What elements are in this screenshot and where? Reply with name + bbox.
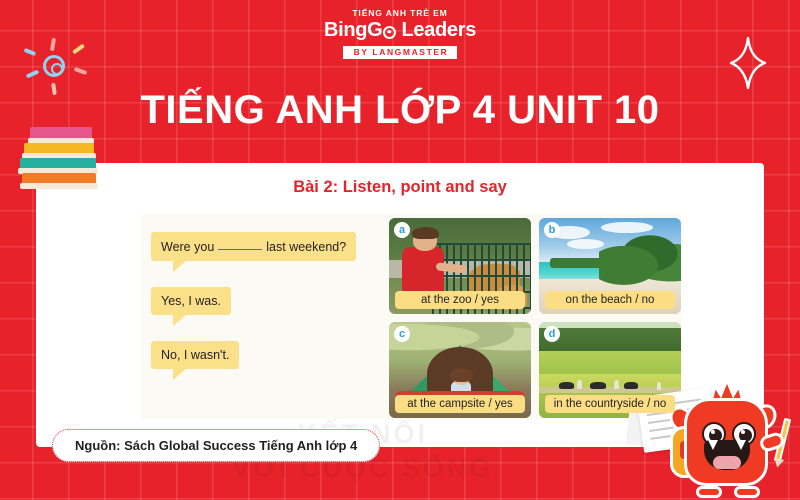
brand-name-part2: Leaders xyxy=(401,19,476,42)
brand-byline: BY LANGMASTER xyxy=(343,46,458,60)
page-title: TIẾNG ANH LỚP 4 UNIT 10 xyxy=(0,90,800,130)
picture-card-grid: a at the zoo / yes b on t xyxy=(389,218,681,418)
book-stack-icon xyxy=(18,127,106,191)
sun-swirl-icon xyxy=(22,38,88,94)
card-badge-d: d xyxy=(544,326,560,342)
card-label-zoo: at the zoo / yes xyxy=(395,291,525,309)
card-label-beach: on the beach / no xyxy=(545,291,675,309)
bubble-text-after: last weekend? xyxy=(266,240,346,254)
bubble-text-before: Were you xyxy=(161,240,214,254)
card-badge-b: b xyxy=(544,222,560,238)
content-panel: Bài 2: Listen, point and say KẾT NỐI VỚI… xyxy=(36,163,764,447)
brand-tagline: TIẾNG ANH TRẺ EM xyxy=(352,9,447,18)
picture-card-zoo[interactable]: a at the zoo / yes xyxy=(389,218,531,314)
source-caption: Nguồn: Sách Global Success Tiếng Anh lớp… xyxy=(52,429,380,462)
bingo-o-icon xyxy=(383,26,396,39)
monster-mascot-icon xyxy=(660,378,790,500)
card-badge-a: a xyxy=(394,222,410,238)
card-label-countryside: in the countryside / no xyxy=(545,395,675,413)
bubble-row: Yes, I was. xyxy=(151,287,381,315)
sparkle-star-icon xyxy=(729,36,767,90)
card-badge-c: c xyxy=(394,326,410,342)
dialogue-bubbles: Were youlast weekend? Yes, I was. No, I … xyxy=(151,232,381,395)
speech-bubble-answer-yes: Yes, I was. xyxy=(151,287,231,315)
brand-logo: TIẾNG ANH TRẺ EM BingG Leaders BY LANGMA… xyxy=(0,9,800,59)
picture-card-countryside[interactable]: d in the countryside / no xyxy=(539,322,681,418)
picture-card-beach[interactable]: b on the beach / no xyxy=(539,218,681,314)
speech-bubble-question: Were youlast weekend? xyxy=(151,232,356,261)
brand-name: BingG Leaders xyxy=(324,19,476,42)
slide-root: TIẾNG ANH TRẺ EM BingG Leaders BY LANGMA… xyxy=(0,0,800,500)
brand-name-part1: BingG xyxy=(324,19,383,42)
worksheet-area: Were youlast weekend? Yes, I was. No, I … xyxy=(141,214,681,419)
sparkle-star-svg xyxy=(729,36,767,90)
bubble-row: No, I wasn't. xyxy=(151,341,381,369)
speech-bubble-answer-no: No, I wasn't. xyxy=(151,341,239,369)
bubble-row: Were youlast weekend? xyxy=(151,232,381,261)
answer-blank xyxy=(218,239,262,250)
lesson-subtitle: Bài 2: Listen, point and say xyxy=(36,178,764,197)
card-label-campsite: at the campsite / yes xyxy=(395,395,525,413)
picture-card-campsite[interactable]: c at the campsite / yes xyxy=(389,322,531,418)
